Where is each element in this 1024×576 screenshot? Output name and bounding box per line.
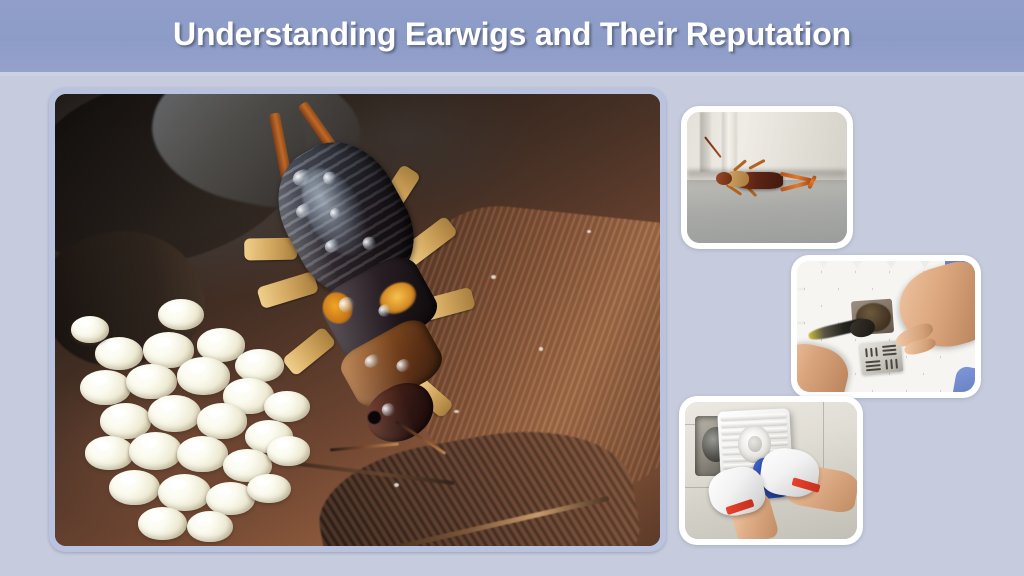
thumbnail-3-frame[interactable] — [679, 396, 863, 545]
slide-canvas: Understanding Earwigs and Their Reputati… — [0, 0, 1024, 576]
header-underline — [0, 72, 1024, 76]
egg — [95, 337, 143, 370]
grate-slot — [883, 353, 897, 356]
exhaust-fan-service-photo — [685, 402, 857, 539]
grate-slot — [882, 345, 896, 348]
grate-slot — [885, 359, 888, 369]
wet-highlight — [491, 275, 496, 279]
earwig-egg-cluster — [85, 320, 327, 528]
egg — [80, 370, 131, 405]
grate-slot — [866, 368, 881, 371]
egg — [267, 436, 311, 465]
grate-slot — [895, 358, 898, 368]
earwig-leg — [256, 272, 318, 310]
grate-slot — [870, 348, 873, 358]
thumbnail-1-frame[interactable] — [681, 106, 853, 249]
egg — [158, 474, 211, 511]
wet-highlight — [394, 483, 399, 487]
egg — [158, 299, 204, 330]
hero-photo-frame[interactable] — [49, 88, 666, 552]
earwig-leg — [243, 238, 297, 261]
wet-highlight — [587, 230, 591, 233]
drain-grate-cover — [860, 340, 904, 375]
fan-louver — [721, 414, 788, 421]
egg — [109, 470, 160, 505]
egg — [177, 436, 228, 471]
thumbnail-2-frame[interactable] — [791, 255, 981, 398]
egg — [71, 316, 110, 343]
grate-slot — [865, 348, 868, 358]
egg — [148, 395, 201, 432]
earwig-macro-photo — [55, 94, 660, 546]
earwig-on-concrete-photo — [687, 112, 847, 243]
page-title: Understanding Earwigs and Their Reputati… — [0, 16, 1024, 53]
floor-drain-cleaning-photo — [797, 261, 975, 392]
grate-slot — [875, 348, 878, 358]
grate-slot — [883, 349, 897, 352]
grate-slot — [866, 364, 881, 367]
egg — [129, 432, 182, 469]
grate-slot — [890, 359, 893, 369]
egg — [138, 507, 186, 540]
egg — [126, 364, 177, 399]
earwig-antenna — [330, 442, 399, 451]
egg — [264, 391, 310, 422]
egg — [187, 511, 233, 542]
egg — [197, 403, 248, 438]
egg — [177, 357, 230, 394]
egg — [85, 436, 133, 469]
egg — [247, 474, 291, 503]
